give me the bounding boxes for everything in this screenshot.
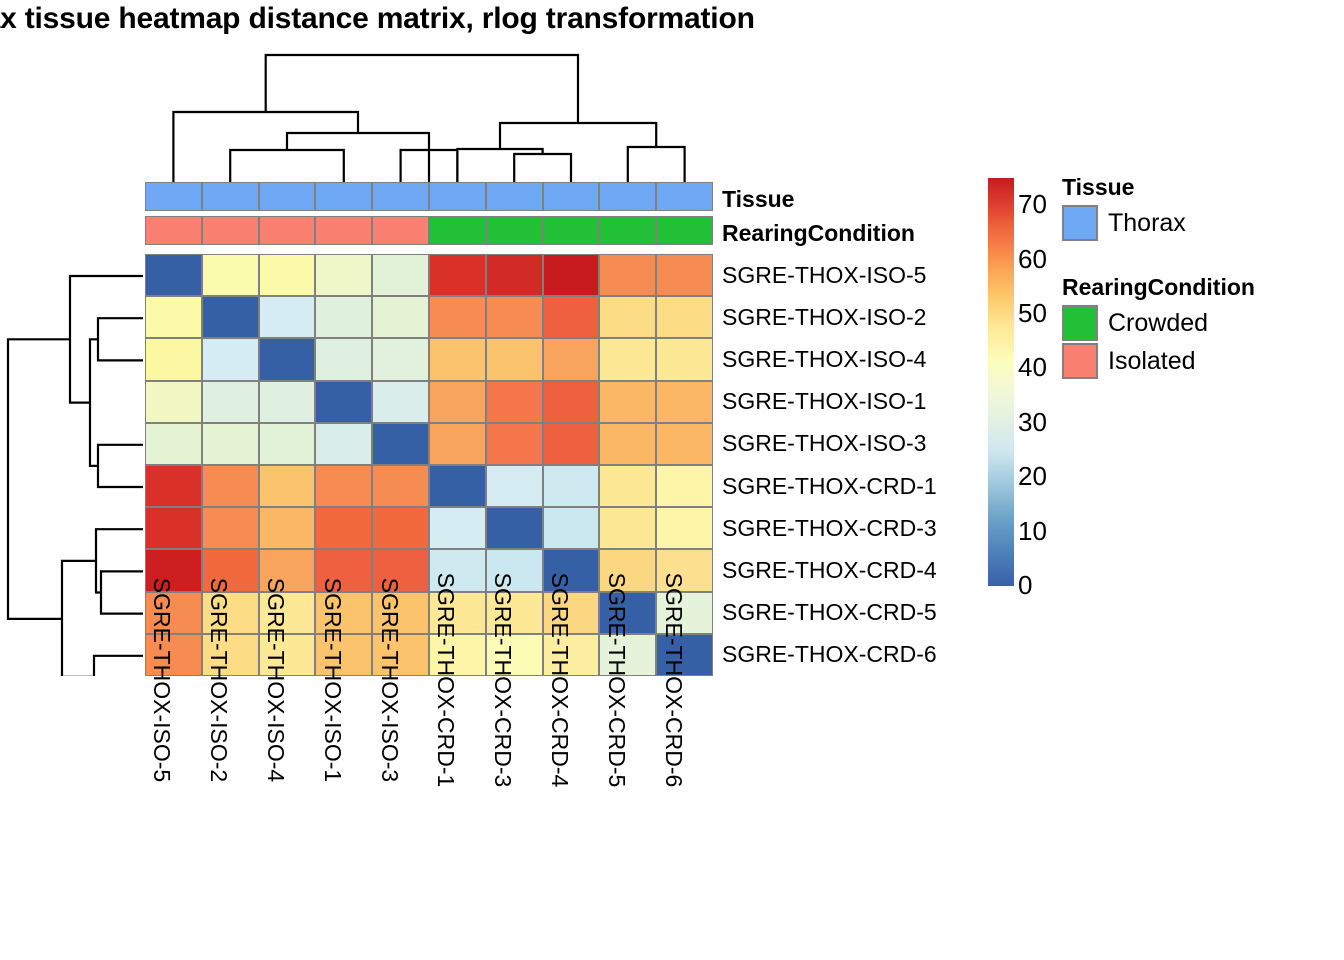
annotation-label-tissue: Tissue bbox=[722, 186, 794, 213]
annotation-cell bbox=[429, 182, 486, 211]
column-label: SGRE-THOX-CRD-4 bbox=[548, 573, 571, 788]
annotation-cell bbox=[656, 216, 713, 245]
column-label-slot: SGRE-THOX-CRD-3 bbox=[486, 680, 543, 958]
row-label: SGRE-THOX-ISO-4 bbox=[722, 338, 937, 380]
heatmap-cell bbox=[429, 381, 486, 423]
column-label-slot: SGRE-THOX-CRD-5 bbox=[599, 680, 656, 958]
annotation-track-tissue bbox=[145, 182, 713, 211]
heatmap-cell bbox=[315, 381, 372, 423]
heatmap-cell bbox=[599, 338, 656, 380]
legend-rearing-swatch bbox=[1062, 343, 1098, 379]
annotation-cell bbox=[145, 182, 202, 211]
colorbar-tick: 40 bbox=[1018, 354, 1047, 380]
heatmap-cell bbox=[429, 296, 486, 338]
legend-tissue-title: Tissue bbox=[1062, 174, 1186, 201]
heatmap-cell bbox=[259, 507, 316, 549]
row-label-list: SGRE-THOX-ISO-5SGRE-THOX-ISO-2SGRE-THOX-… bbox=[722, 254, 937, 676]
heatmap-cell bbox=[656, 338, 713, 380]
colorbar-tick: 60 bbox=[1018, 246, 1047, 272]
row-label: SGRE-THOX-CRD-5 bbox=[722, 592, 937, 634]
column-label-slot: SGRE-THOX-ISO-2 bbox=[202, 680, 259, 958]
heatmap-cell bbox=[259, 254, 316, 296]
heatmap-cell bbox=[486, 296, 543, 338]
column-label: SGRE-THOX-CRD-6 bbox=[662, 573, 685, 788]
column-label: SGRE-THOX-ISO-4 bbox=[264, 578, 287, 782]
heatmap-cell bbox=[145, 296, 202, 338]
colorbar-tick: 20 bbox=[1018, 463, 1047, 489]
annotation-cell bbox=[429, 216, 486, 245]
heatmap-cell bbox=[599, 465, 656, 507]
column-label-slot: SGRE-THOX-CRD-6 bbox=[656, 680, 713, 958]
heatmap-cell bbox=[543, 296, 600, 338]
annotation-cell bbox=[315, 216, 372, 245]
heatmap-cell bbox=[315, 296, 372, 338]
heatmap-cell bbox=[543, 338, 600, 380]
legend-tissue-swatch bbox=[1062, 205, 1098, 241]
annotation-cell bbox=[543, 182, 600, 211]
heatmap-cell bbox=[202, 338, 259, 380]
heatmap-cell bbox=[599, 507, 656, 549]
column-label-slot: SGRE-THOX-ISO-1 bbox=[315, 680, 372, 958]
heatmap-cell bbox=[486, 507, 543, 549]
heatmap-cell bbox=[259, 381, 316, 423]
column-label-slot: SGRE-THOX-CRD-4 bbox=[543, 680, 600, 958]
row-label: SGRE-THOX-CRD-1 bbox=[722, 465, 937, 507]
legend-rearing-label: Crowded bbox=[1108, 309, 1208, 338]
annotation-cell bbox=[259, 182, 316, 211]
annotation-cell bbox=[202, 182, 259, 211]
heatmap-cell bbox=[202, 423, 259, 465]
annotation-cell bbox=[486, 182, 543, 211]
heatmap-cell bbox=[372, 465, 429, 507]
heatmap-cell bbox=[656, 507, 713, 549]
heatmap-cell bbox=[372, 381, 429, 423]
annotation-cell bbox=[315, 182, 372, 211]
heatmap-cell bbox=[429, 338, 486, 380]
heatmap-cell bbox=[486, 465, 543, 507]
annotation-cell bbox=[656, 182, 713, 211]
heatmap-cell bbox=[315, 465, 372, 507]
legend-tissue-item[interactable]: Thorax bbox=[1062, 204, 1186, 242]
colorbar bbox=[988, 178, 1014, 586]
heatmap-cell bbox=[145, 381, 202, 423]
heatmap-cell bbox=[429, 254, 486, 296]
heatmap-cell bbox=[599, 381, 656, 423]
annotation-cell bbox=[486, 216, 543, 245]
heatmap-cell bbox=[315, 423, 372, 465]
column-label-slot: SGRE-THOX-ISO-5 bbox=[145, 680, 202, 958]
heatmap-cell bbox=[486, 381, 543, 423]
heatmap-cell bbox=[429, 465, 486, 507]
legend-rearing-item[interactable]: Crowded bbox=[1062, 304, 1255, 342]
heatmap-cell bbox=[543, 507, 600, 549]
legend-rearing: RearingCondition CrowdedIsolated bbox=[1062, 274, 1255, 380]
heatmap-cell bbox=[543, 423, 600, 465]
colorbar-tick: 50 bbox=[1018, 300, 1047, 326]
heatmap-cell bbox=[315, 338, 372, 380]
column-label-slot: SGRE-THOX-ISO-3 bbox=[372, 680, 429, 958]
colorbar-gradient bbox=[988, 178, 1014, 586]
heatmap-cell bbox=[656, 423, 713, 465]
heatmap-cell bbox=[656, 254, 713, 296]
heatmap-cell bbox=[372, 423, 429, 465]
heatmap-cell bbox=[543, 254, 600, 296]
heatmap-cell bbox=[372, 338, 429, 380]
colorbar-tick: 30 bbox=[1018, 409, 1047, 435]
row-label: SGRE-THOX-ISO-5 bbox=[722, 254, 937, 296]
row-dendrogram bbox=[2, 255, 143, 676]
heatmap-cell bbox=[202, 465, 259, 507]
heatmap-cell bbox=[145, 507, 202, 549]
annotation-cell bbox=[372, 182, 429, 211]
annotation-cell bbox=[372, 216, 429, 245]
column-label: SGRE-THOX-CRD-5 bbox=[605, 573, 628, 788]
heatmap-cell bbox=[543, 465, 600, 507]
heatmap-cell bbox=[315, 507, 372, 549]
heatmap-cell bbox=[259, 423, 316, 465]
legend-rearing-swatch bbox=[1062, 305, 1098, 341]
annotation-cell bbox=[202, 216, 259, 245]
colorbar-tick: 0 bbox=[1018, 572, 1032, 598]
heatmap-cell bbox=[656, 465, 713, 507]
annotation-cell bbox=[259, 216, 316, 245]
column-label: SGRE-THOX-ISO-3 bbox=[378, 578, 401, 782]
legend-rearing-title: RearingCondition bbox=[1062, 274, 1255, 301]
row-label: SGRE-THOX-ISO-2 bbox=[722, 296, 937, 338]
heatmap-cell bbox=[372, 254, 429, 296]
row-label: SGRE-THOX-CRD-6 bbox=[722, 634, 937, 676]
annotation-label-rearing: RearingCondition bbox=[722, 220, 915, 247]
heatmap-cell bbox=[202, 381, 259, 423]
legend-tissue-label: Thorax bbox=[1108, 209, 1186, 238]
heatmap-cell bbox=[656, 381, 713, 423]
heatmap-cell bbox=[145, 338, 202, 380]
annotation-cell bbox=[599, 216, 656, 245]
legend-rearing-label: Isolated bbox=[1108, 347, 1196, 376]
column-dendrogram bbox=[145, 45, 713, 183]
heatmap-cell bbox=[599, 254, 656, 296]
heatmap-cell bbox=[202, 254, 259, 296]
heatmap-cell bbox=[145, 254, 202, 296]
heatmap-cell bbox=[259, 465, 316, 507]
row-label: SGRE-THOX-ISO-1 bbox=[722, 381, 937, 423]
heatmap-cell bbox=[429, 507, 486, 549]
column-label-list: SGRE-THOX-ISO-5SGRE-THOX-ISO-2SGRE-THOX-… bbox=[145, 680, 713, 958]
row-label: SGRE-THOX-ISO-3 bbox=[722, 423, 937, 465]
heatmap-cell bbox=[599, 423, 656, 465]
heatmap-cell bbox=[429, 423, 486, 465]
heatmap-cell bbox=[372, 507, 429, 549]
annotation-track-rearing bbox=[145, 216, 713, 245]
column-label: SGRE-THOX-CRD-1 bbox=[434, 573, 457, 788]
row-label: SGRE-THOX-CRD-4 bbox=[722, 549, 937, 591]
annotation-cell bbox=[599, 182, 656, 211]
column-label: SGRE-THOX-ISO-1 bbox=[321, 578, 344, 782]
column-label: SGRE-THOX-ISO-2 bbox=[207, 578, 230, 782]
heatmap-cell bbox=[486, 423, 543, 465]
heatmap-cell bbox=[145, 423, 202, 465]
heatmap-cell bbox=[599, 296, 656, 338]
heatmap-cell bbox=[315, 254, 372, 296]
colorbar-tick: 10 bbox=[1018, 518, 1047, 544]
annotation-cell bbox=[145, 216, 202, 245]
column-label-slot: SGRE-THOX-CRD-1 bbox=[429, 680, 486, 958]
heatmap-cell bbox=[202, 507, 259, 549]
heatmap-cell bbox=[145, 465, 202, 507]
heatmap-cell bbox=[656, 296, 713, 338]
heatmap-cell bbox=[202, 296, 259, 338]
column-label: SGRE-THOX-ISO-5 bbox=[150, 578, 173, 782]
heatmap-cell bbox=[372, 296, 429, 338]
heatmap-cell bbox=[259, 338, 316, 380]
legend-tissue: Tissue Thorax bbox=[1062, 174, 1186, 242]
colorbar-tick: 70 bbox=[1018, 191, 1047, 217]
heatmap-cell bbox=[486, 338, 543, 380]
row-label: SGRE-THOX-CRD-3 bbox=[722, 507, 937, 549]
heatmap-cell bbox=[259, 296, 316, 338]
column-label: SGRE-THOX-CRD-3 bbox=[491, 573, 514, 788]
annotation-cell bbox=[543, 216, 600, 245]
heatmap-cell bbox=[543, 381, 600, 423]
legend-rearing-item[interactable]: Isolated bbox=[1062, 342, 1255, 380]
heatmap-cell bbox=[486, 254, 543, 296]
column-label-slot: SGRE-THOX-ISO-4 bbox=[259, 680, 316, 958]
page-title: orax tissue heatmap distance matrix, rlo… bbox=[0, 2, 755, 36]
